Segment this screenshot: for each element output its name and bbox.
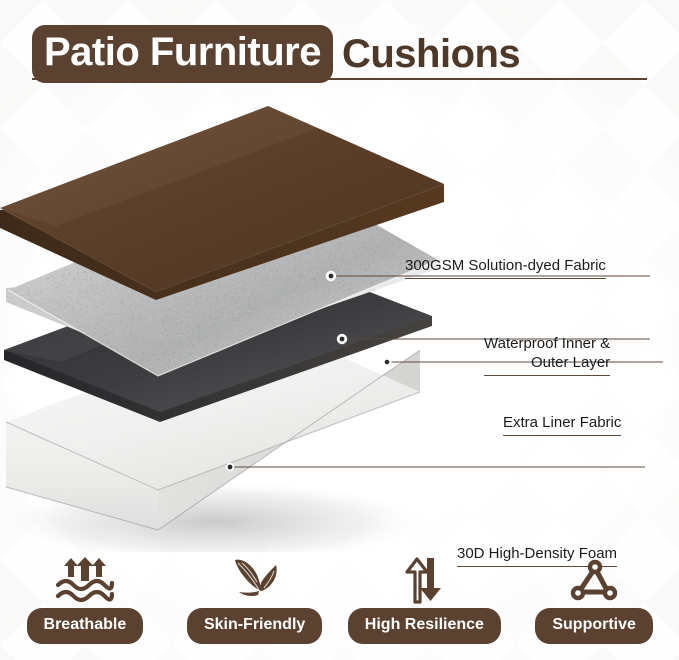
callout-label-membrane-line1: Waterproof Inner &	[484, 334, 610, 353]
product-infographic: Patio Furniture Cushions	[0, 0, 679, 660]
feature-breathable: Breathable	[0, 556, 170, 660]
feather-icon	[228, 556, 282, 604]
support-network-icon	[568, 556, 620, 604]
page-title: Patio Furniture Cushions	[32, 25, 520, 83]
callout-label-membrane-line2: Outer Layer	[484, 353, 610, 372]
callout-label-membrane: Waterproof Inner & Outer Layer	[484, 334, 610, 376]
feature-badges: Breathable Skin-Friendly	[0, 556, 679, 660]
feature-supportive: Supportive	[509, 556, 679, 660]
callout-label-fabric: 300GSM Solution-dyed Fabric	[405, 256, 606, 279]
feature-label-supportive: Supportive	[535, 608, 653, 644]
feature-high-resilience: High Resilience	[340, 556, 510, 660]
feature-skin-friendly: Skin-Friendly	[170, 556, 340, 660]
up-down-arrows-icon	[401, 556, 447, 604]
feature-label-breathable: Breathable	[27, 608, 144, 644]
breathable-airflow-icon	[54, 556, 116, 604]
title-underline-rule	[32, 78, 647, 80]
cushion-layer-diagram: 300GSM Solution-dyed Fabric Waterproof I…	[0, 92, 679, 552]
header: Patio Furniture Cushions	[0, 0, 679, 92]
title-highlight-badge: Patio Furniture	[32, 25, 333, 83]
title-plain-text: Cushions	[333, 34, 520, 74]
feature-label-high-resilience: High Resilience	[348, 608, 501, 644]
callout-label-liner: Extra Liner Fabric	[503, 413, 621, 436]
feature-label-skin-friendly: Skin-Friendly	[187, 608, 322, 644]
